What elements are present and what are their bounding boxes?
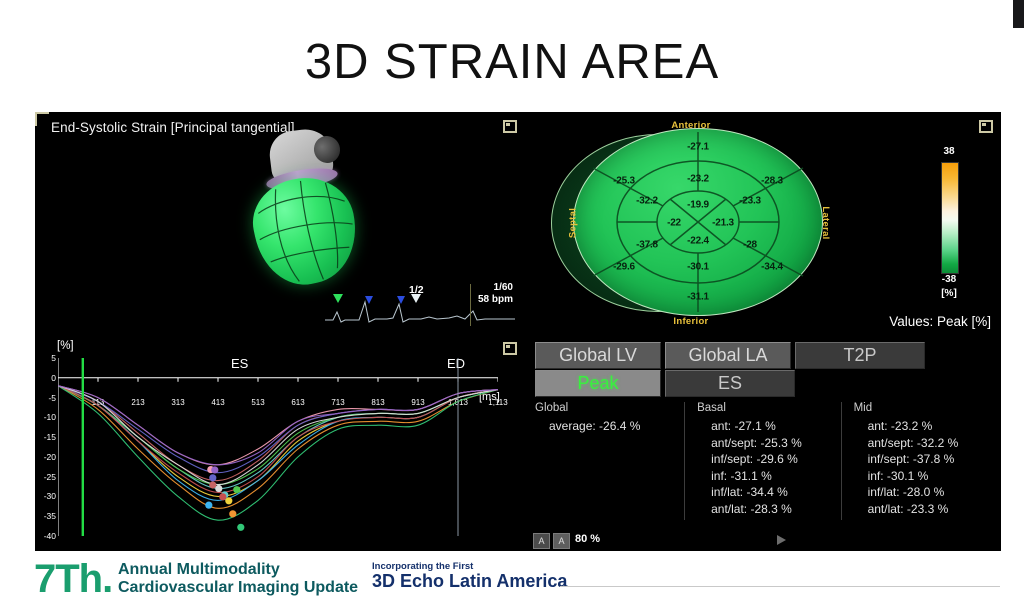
tab-t2p-label: T2P xyxy=(843,345,876,365)
tab-global-la-label: Global LA xyxy=(688,345,767,365)
bullseye-label-inferior: Inferior xyxy=(673,316,708,327)
y-axis-unit-label: [%] xyxy=(57,340,74,352)
footer-edition-logo: 7Th. xyxy=(34,557,112,602)
bullseye-apical-lat: -21.3 xyxy=(712,218,734,229)
panel-measurements[interactable]: Global LV Global LA T2P Peak ES Global a… xyxy=(527,336,1001,551)
y-tick: -25 xyxy=(44,472,56,482)
y-tick: -35 xyxy=(44,511,56,521)
bullseye-mid-ant-sept: -32.2 xyxy=(636,196,658,207)
lv-3d-model[interactable] xyxy=(230,130,365,290)
y-tick: -30 xyxy=(44,491,56,501)
panel-bullseye[interactable]: -27.1 -25.3 -29.6 -31.1 -34.4 -28.3 -23.… xyxy=(527,112,1001,334)
column-heading-basal: Basal xyxy=(697,402,840,414)
measurement-row: ant: -23.2 % xyxy=(854,418,997,435)
colorbar-max-label: 38 xyxy=(943,146,954,157)
y-tick: -40 xyxy=(44,531,56,541)
echocardiograph-screen: End-Systolic Strain [Principal tangentia… xyxy=(35,112,1001,551)
colorbar-unit-label: [%] xyxy=(941,288,957,299)
slide-footer: 7Th. Annual Multimodality Cardiovascular… xyxy=(0,553,1024,611)
colorbar-gradient xyxy=(941,162,959,274)
tab-global-lv-label: Global LV xyxy=(559,345,637,365)
measurement-row: ant: -27.1 % xyxy=(697,418,840,435)
y-tick: -5 xyxy=(48,393,56,403)
footer-divider xyxy=(560,586,1000,587)
ecg-marker-blue-b-icon xyxy=(397,296,405,304)
y-tick: -15 xyxy=(44,432,56,442)
panel-strain-curves[interactable]: [%] ES ED 5 0 -5 -10 -15 -20 -25 -30 -35… xyxy=(35,336,525,551)
bullseye-resize-handle-icon[interactable] xyxy=(979,120,993,133)
bullseye-basal-ant-lat: -28.3 xyxy=(761,176,783,187)
measurement-row: average: -26.4 % xyxy=(535,418,684,435)
bullseye-mid-inf-lat: -28 xyxy=(743,240,757,251)
bullseye-basal-inf-sept: -29.6 xyxy=(613,262,635,273)
measurement-row: ant/sept: -32.2 % xyxy=(854,435,997,452)
ecg-heart-rate: 58 bpm xyxy=(478,294,513,306)
bullseye-basal-inf-lat: -34.4 xyxy=(761,262,783,273)
bullseye-apical-ant: -19.9 xyxy=(687,200,709,211)
bullseye-mid-inf: -30.1 xyxy=(687,262,709,273)
bullseye-apical-sept: -22 xyxy=(667,218,681,229)
column-heading-global: Global xyxy=(535,402,684,414)
bullseye-disc[interactable]: -27.1 -25.3 -29.6 -31.1 -34.4 -28.3 -23.… xyxy=(573,128,823,316)
y-axis-tick-labels: 5 0 -5 -10 -15 -20 -25 -30 -35 -40 xyxy=(35,358,56,536)
bullseye-values-caption: Values: Peak [%] xyxy=(889,314,991,329)
bullseye-mid-ant: -23.2 xyxy=(687,174,709,185)
measurement-row: inf/lat: -34.4 % xyxy=(697,484,840,501)
y-tick: -10 xyxy=(44,412,56,422)
colorbar-min-label: -38 xyxy=(942,274,956,285)
bullseye-basal-inf: -31.1 xyxy=(687,292,709,303)
curves-resize-handle-icon[interactable] xyxy=(503,342,517,355)
bullseye-label-lateral: Lateral xyxy=(820,206,831,239)
lv-mesh-wireframe-icon xyxy=(245,169,366,294)
ecg-marker-blue-a-icon xyxy=(365,296,373,304)
footer-conference-line1: Annual Multimodality xyxy=(118,561,358,579)
tab-es[interactable]: ES xyxy=(665,370,795,397)
bullseye-plot[interactable]: -27.1 -25.3 -29.6 -31.1 -34.4 -28.3 -23.… xyxy=(551,120,841,326)
measurement-row: inf/sept: -29.6 % xyxy=(697,451,840,468)
footer-sub-event: 3D Echo Latin America xyxy=(372,571,567,592)
ecg-strip[interactable]: 1/2 1/60 58 bpm xyxy=(325,284,515,328)
panel-3d-mesh[interactable]: End-Systolic Strain [Principal tangentia… xyxy=(35,112,525,334)
strain-colorbar: 38 -38 [%] xyxy=(927,146,985,306)
measurement-column-global: Global average: -26.4 % xyxy=(535,402,684,520)
bullseye-apical-inf: -22.4 xyxy=(687,236,709,247)
footer-conference-name: Annual Multimodality Cardiovascular Imag… xyxy=(118,561,358,597)
page-title: 3D STRAIN AREA xyxy=(0,34,1024,90)
y-tick: -20 xyxy=(44,452,56,462)
strain-curve-plot[interactable] xyxy=(58,358,498,536)
bullseye-mid-ant-lat: -23.3 xyxy=(739,196,761,207)
measurement-row: ant/lat: -28.3 % xyxy=(697,501,840,518)
measurement-columns: Global average: -26.4 % Basal ant: -27.1… xyxy=(535,402,997,520)
ecg-marker-green-icon xyxy=(333,294,343,303)
tab-global-la[interactable]: Global LA xyxy=(665,342,791,369)
bullseye-label-anterior: Anterior xyxy=(671,120,710,131)
screen-edge-sliver xyxy=(1013,0,1024,28)
ecg-divider xyxy=(470,284,471,326)
tab-t2p[interactable]: T2P xyxy=(795,342,925,369)
font-decrease-button[interactable]: A xyxy=(533,533,550,549)
ecg-readout: 1/60 58 bpm xyxy=(478,282,513,306)
footer-conference-line2: Cardiovascular Imaging Update xyxy=(118,579,358,597)
zoom-level-label: 80 % xyxy=(575,533,600,545)
bullseye-basal-ant-sept: -25.3 xyxy=(613,176,635,187)
measurement-row: inf: -31.1 % xyxy=(697,468,840,485)
measurement-row: inf/lat: -28.0 % xyxy=(854,484,997,501)
tabs-primary[interactable]: Global LV Global LA T2P xyxy=(535,342,925,369)
measurement-row: inf/sept: -37.8 % xyxy=(854,451,997,468)
tab-global-lv[interactable]: Global LV xyxy=(535,342,661,369)
measurement-row: ant/lat: -23.3 % xyxy=(854,501,997,518)
tabs-secondary[interactable]: Peak ES xyxy=(535,370,795,397)
measurement-column-basal: Basal ant: -27.1 % ant/sept: -25.3 % inf… xyxy=(684,402,840,520)
ecg-beat-indicator: 1/2 xyxy=(409,284,424,296)
tab-es-label: ES xyxy=(718,373,742,393)
measurement-column-mid: Mid ant: -23.2 % ant/sept: -32.2 % inf/s… xyxy=(841,402,997,520)
measurement-row: inf: -30.1 % xyxy=(854,468,997,485)
bullseye-label-septal: Septal xyxy=(568,208,579,238)
tab-peak-label: Peak xyxy=(577,373,618,393)
tab-peak[interactable]: Peak xyxy=(535,370,661,397)
play-arrow-icon[interactable] xyxy=(777,535,786,545)
bullseye-mid-inf-sept: -37.8 xyxy=(636,240,658,251)
bullseye-segment-lines-icon xyxy=(574,129,822,315)
lv-strain-surface xyxy=(245,169,366,294)
ecg-frame-rate: 1/60 xyxy=(478,282,513,294)
bullseye-basal-ant: -27.1 xyxy=(687,142,709,153)
column-heading-mid: Mid xyxy=(854,402,997,414)
measurement-row: ant/sept: -25.3 % xyxy=(697,435,840,452)
y-tick: 5 xyxy=(51,353,56,363)
measurement-toolbar[interactable]: A A 80 % xyxy=(527,529,1001,551)
y-tick: 0 xyxy=(51,373,56,383)
panel-resize-handle-icon[interactable] xyxy=(503,120,517,133)
strain-curves-svg xyxy=(58,358,498,536)
font-increase-button[interactable]: A xyxy=(553,533,570,549)
